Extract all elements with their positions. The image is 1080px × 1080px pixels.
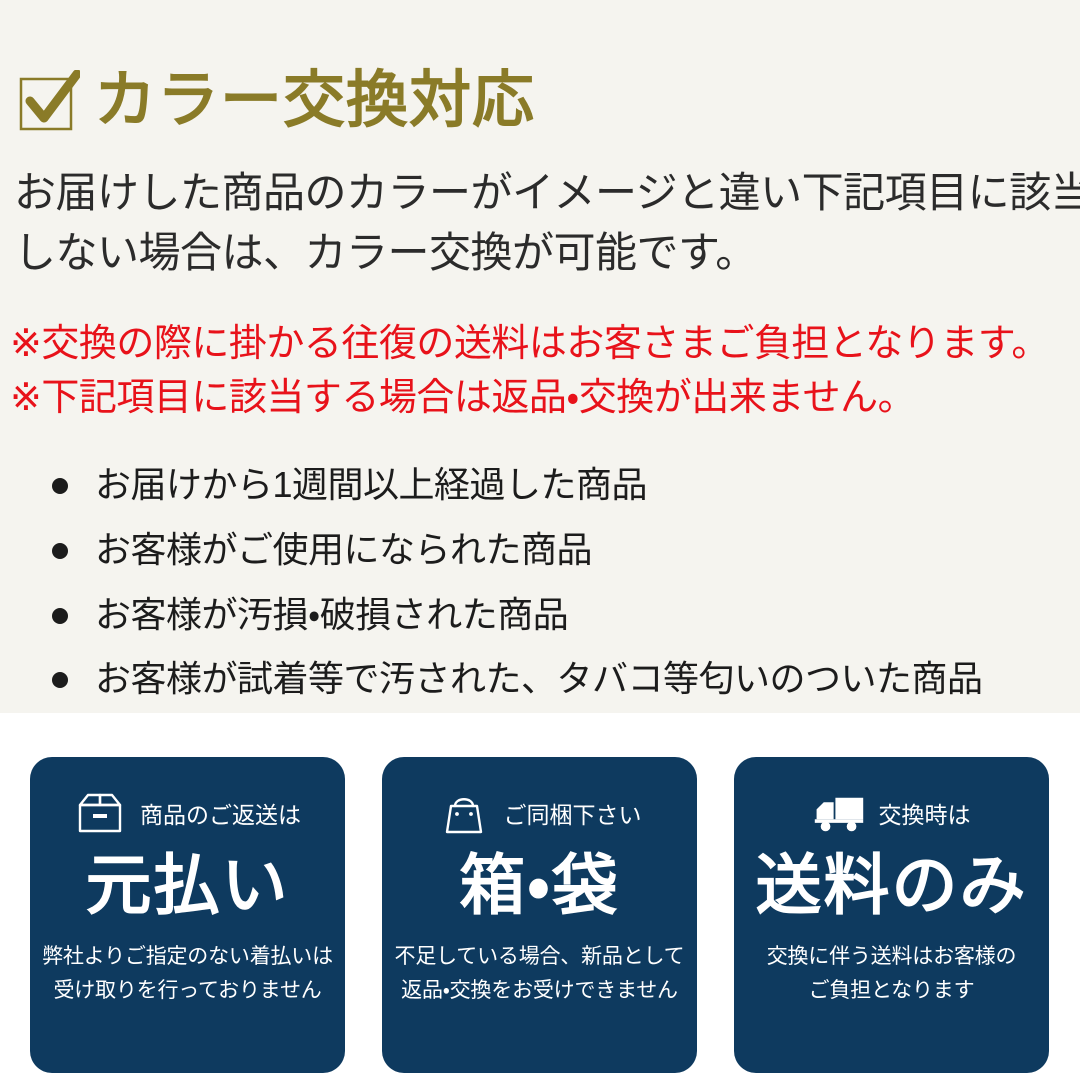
list-item-label: お客様がご使用になられた商品 bbox=[95, 527, 592, 574]
card-kicker: 商品のご返送は bbox=[140, 796, 301, 830]
lead-line-1: お届けした商品のカラーがイメージと違い下記項目に該当 bbox=[14, 163, 1070, 223]
bullet-dot-icon bbox=[52, 608, 68, 624]
package-box-icon bbox=[74, 790, 126, 836]
card-note-line-2: 受け取りを行っておりません bbox=[42, 974, 333, 1008]
policy-card-return-shipping: 商品のご返送は 元払い 弊社よりご指定のない着払いは 受け取りを行っておりません bbox=[30, 757, 345, 1073]
shopping-bag-icon bbox=[438, 790, 490, 836]
card-header: 商品のご返送は bbox=[50, 785, 325, 841]
list-item-label: お客様が汚損・破損された商品 bbox=[95, 592, 568, 639]
card-header: ご同梱下さい bbox=[402, 785, 677, 841]
delivery-truck-icon bbox=[813, 790, 865, 836]
card-kicker: ご同梱下さい bbox=[504, 796, 642, 830]
list-item-label: お届けから1週間以上経過した商品 bbox=[95, 462, 647, 509]
card-header: 交換時は bbox=[754, 785, 1029, 841]
card-note: 不足している場合、新品として 返品・交換をお受けできません bbox=[395, 940, 685, 1008]
list-item: お客様が汚損・破損された商品 bbox=[52, 592, 1072, 639]
notice-block: ※交換の際に掛かる往復の送料はお客さまご負担となります。 ※下記項目に該当する場… bbox=[10, 318, 1070, 426]
color-exchange-policy-graphic: カラー交換対応 お届けした商品のカラーがイメージと違い下記項目に該当 しない場合… bbox=[0, 0, 1080, 1080]
policy-card-group: 商品のご返送は 元払い 弊社よりご指定のない着払いは 受け取りを行っておりません bbox=[30, 757, 1050, 1073]
list-item: お届けから1週間以上経過した商品 bbox=[52, 462, 1072, 509]
list-item: お客様が試着等で汚された、タバコ等匂いのついた商品 bbox=[52, 656, 1072, 703]
card-note: 交換に伴う送料はお客様の ご負担となります bbox=[767, 940, 1017, 1008]
card-note-line-1: 弊社よりご指定のない着払いは bbox=[42, 940, 333, 974]
checked-checkbox-icon bbox=[18, 70, 80, 132]
card-kicker: 交換時は bbox=[879, 796, 971, 830]
card-note-line-2: 返品・交換をお受けできません bbox=[395, 974, 685, 1008]
card-headline: 送料のみ bbox=[756, 849, 1028, 922]
card-note-line-2: ご負担となります bbox=[767, 974, 1017, 1008]
notice-line-1: ※交換の際に掛かる往復の送料はお客さまご負担となります。 bbox=[10, 318, 1070, 372]
page-title-row: カラー交換対応 bbox=[18, 70, 535, 132]
policy-card-include-packaging: ご同梱下さい 箱・袋 不足している場合、新品として 返品・交換をお受けできません bbox=[382, 757, 697, 1073]
card-note-line-1: 不足している場合、新品として bbox=[395, 940, 685, 974]
page-title: カラー交換対応 bbox=[94, 70, 535, 132]
card-note-line-1: 交換に伴う送料はお客様の bbox=[767, 940, 1017, 974]
bullet-dot-icon bbox=[52, 672, 68, 688]
lead-line-2: しない場合は、カラー交換が可能です。 bbox=[14, 223, 1070, 283]
list-item: お客様がご使用になられた商品 bbox=[52, 527, 1072, 574]
list-item-label: お客様が試着等で汚された、タバコ等匂いのついた商品 bbox=[95, 656, 983, 703]
card-note: 弊社よりご指定のない着払いは 受け取りを行っておりません bbox=[42, 940, 333, 1008]
lead-paragraph: お届けした商品のカラーがイメージと違い下記項目に該当 しない場合は、カラー交換が… bbox=[14, 163, 1070, 282]
card-headline: 箱・袋 bbox=[459, 849, 619, 922]
card-headline: 元払い bbox=[86, 849, 290, 922]
bullet-dot-icon bbox=[52, 543, 68, 559]
bullet-dot-icon bbox=[52, 478, 68, 494]
exclusion-list: お届けから1週間以上経過した商品 お客様がご使用になられた商品 お客様が汚損・破… bbox=[52, 462, 1072, 721]
policy-card-shipping-only: 交換時は 送料のみ 交換に伴う送料はお客様の ご負担となります bbox=[734, 757, 1049, 1073]
notice-line-2: ※下記項目に該当する場合は返品・交換が出来ません。 bbox=[10, 372, 1070, 426]
